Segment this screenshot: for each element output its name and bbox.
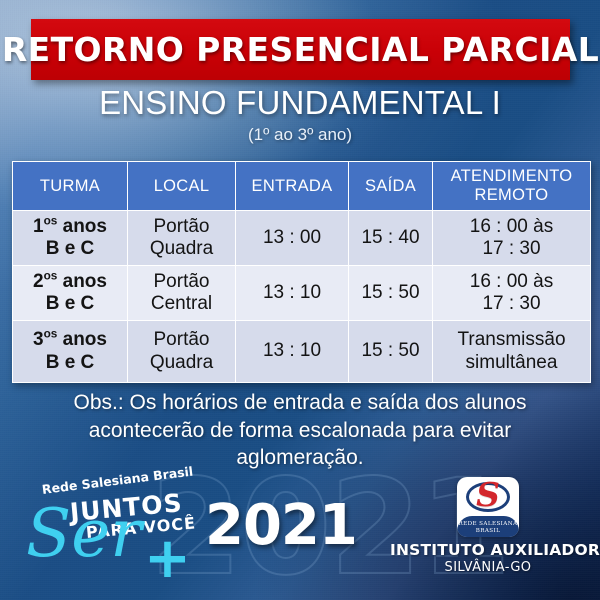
table-header-row: TURMA LOCAL ENTRADA SAÍDA ATENDIMENTO RE…: [13, 162, 591, 211]
plus-icon: +: [144, 531, 191, 587]
observation-line-3: aglomeração.: [30, 444, 570, 472]
turma-ordinal: os: [44, 328, 58, 341]
table-body: 1os anos B e C Portão Quadra 13 : 00 15 …: [13, 211, 591, 383]
column-header-remoto-line2: REMOTO: [435, 186, 588, 205]
cell-local: Portão Central: [128, 266, 236, 321]
logo-band: REDE SALESIANA BRASIL: [457, 516, 519, 537]
year-label: 2021: [205, 498, 357, 554]
cell-entrada: 13 : 00: [236, 211, 349, 266]
turma-number: 1: [33, 216, 44, 237]
cell-entrada: 13 : 10: [236, 321, 349, 383]
turma-line2: B e C: [15, 352, 125, 374]
local-line1: Portão: [130, 216, 233, 238]
poster-canvas: 2021 RETORNO PRESENCIAL PARCIAL ENSINO F…: [0, 0, 600, 600]
column-header-remoto: ATENDIMENTO REMOTO: [433, 162, 591, 211]
cell-saida: 15 : 40: [349, 211, 433, 266]
cell-entrada: 13 : 10: [236, 266, 349, 321]
table-row: 2os anos B e C Portão Central 13 : 10 15…: [13, 266, 591, 321]
turma-line1: 1os anos: [15, 216, 125, 238]
turma-word: anos: [57, 271, 107, 292]
cell-local: Portão Quadra: [128, 211, 236, 266]
remoto-line2: 17 : 30: [435, 293, 588, 315]
turma-ordinal: os: [44, 215, 58, 228]
column-header-local: LOCAL: [128, 162, 236, 211]
rede-salesiana-logo-icon: S REDE SALESIANA BRASIL: [457, 477, 519, 537]
cell-turma: 1os anos B e C: [13, 211, 128, 266]
remoto-line2: 17 : 30: [435, 238, 588, 260]
logo-band-line1: REDE SALESIANA: [457, 521, 519, 528]
table-row: 3os anos B e C Portão Quadra 13 : 10 15 …: [13, 321, 591, 383]
cell-turma: 3os anos B e C: [13, 321, 128, 383]
column-header-entrada: ENTRADA: [236, 162, 349, 211]
cell-local: Portão Quadra: [128, 321, 236, 383]
turma-line2: B e C: [15, 238, 125, 260]
logo-band-line2: BRASIL: [457, 528, 519, 535]
observation-line-2: acontecerão de forma escalonada para evi…: [30, 417, 570, 445]
turma-number: 2: [33, 271, 44, 292]
turma-line1: 3os anos: [15, 329, 125, 351]
observation-line-1: Obs.: Os horários de entrada e saída dos…: [30, 389, 570, 417]
ser-logo-ser: Ser: [26, 501, 142, 567]
cell-remoto: 16 : 00 às 17 : 30: [433, 211, 591, 266]
remoto-line2: simultânea: [435, 352, 588, 374]
cell-remoto: Transmissão simultânea: [433, 321, 591, 383]
brand-strip: Rede Salesiana Brasil JUNTOS PARA VOCÊ S…: [0, 475, 600, 600]
institute-block: S REDE SALESIANA BRASIL INSTITUTO AUXILI…: [390, 477, 586, 575]
observation-note: Obs.: Os horários de entrada e saída dos…: [30, 389, 570, 472]
local-line1: Portão: [130, 271, 233, 293]
headline-text: RETORNO PRESENCIAL PARCIAL: [2, 30, 599, 69]
table-head: TURMA LOCAL ENTRADA SAÍDA ATENDIMENTO RE…: [13, 162, 591, 211]
headline-banner: RETORNO PRESENCIAL PARCIAL: [31, 19, 570, 80]
turma-word: anos: [57, 329, 107, 350]
subtitle-sub: (1º ao 3º ano): [0, 125, 600, 145]
cell-saida: 15 : 50: [349, 266, 433, 321]
schedule-table: TURMA LOCAL ENTRADA SAÍDA ATENDIMENTO RE…: [12, 161, 591, 383]
cell-saida: 15 : 50: [349, 321, 433, 383]
local-line2: Quadra: [130, 352, 233, 374]
turma-word: anos: [57, 216, 107, 237]
remoto-line1: 16 : 00 às: [435, 271, 588, 293]
cell-remoto: 16 : 00 às 17 : 30: [433, 266, 591, 321]
institute-name: INSTITUTO AUXILIADORA: [390, 541, 586, 559]
column-header-saida: SAÍDA: [349, 162, 433, 211]
local-line2: Quadra: [130, 238, 233, 260]
turma-number: 3: [33, 329, 44, 350]
local-line2: Central: [130, 293, 233, 315]
local-line1: Portão: [130, 329, 233, 351]
logo-s-swoosh: S: [457, 478, 519, 511]
subtitle-main: ENSINO FUNDAMENTAL I: [0, 84, 600, 122]
subtitle-block: ENSINO FUNDAMENTAL I (1º ao 3º ano): [0, 84, 600, 145]
institute-city: SILVÂNIA-GO: [390, 560, 586, 575]
cell-turma: 2os anos B e C: [13, 266, 128, 321]
ser-mais-logo: Rede Salesiana Brasil JUNTOS PARA VOCÊ S…: [24, 479, 204, 584]
turma-line1: 2os anos: [15, 271, 125, 293]
remoto-line1: 16 : 00 às: [435, 216, 588, 238]
column-header-turma: TURMA: [13, 162, 128, 211]
turma-ordinal: os: [44, 270, 58, 283]
turma-line2: B e C: [15, 293, 125, 315]
table-row: 1os anos B e C Portão Quadra 13 : 00 15 …: [13, 211, 591, 266]
remoto-line1: Transmissão: [435, 329, 588, 351]
column-header-remoto-line1: ATENDIMENTO: [435, 167, 588, 186]
